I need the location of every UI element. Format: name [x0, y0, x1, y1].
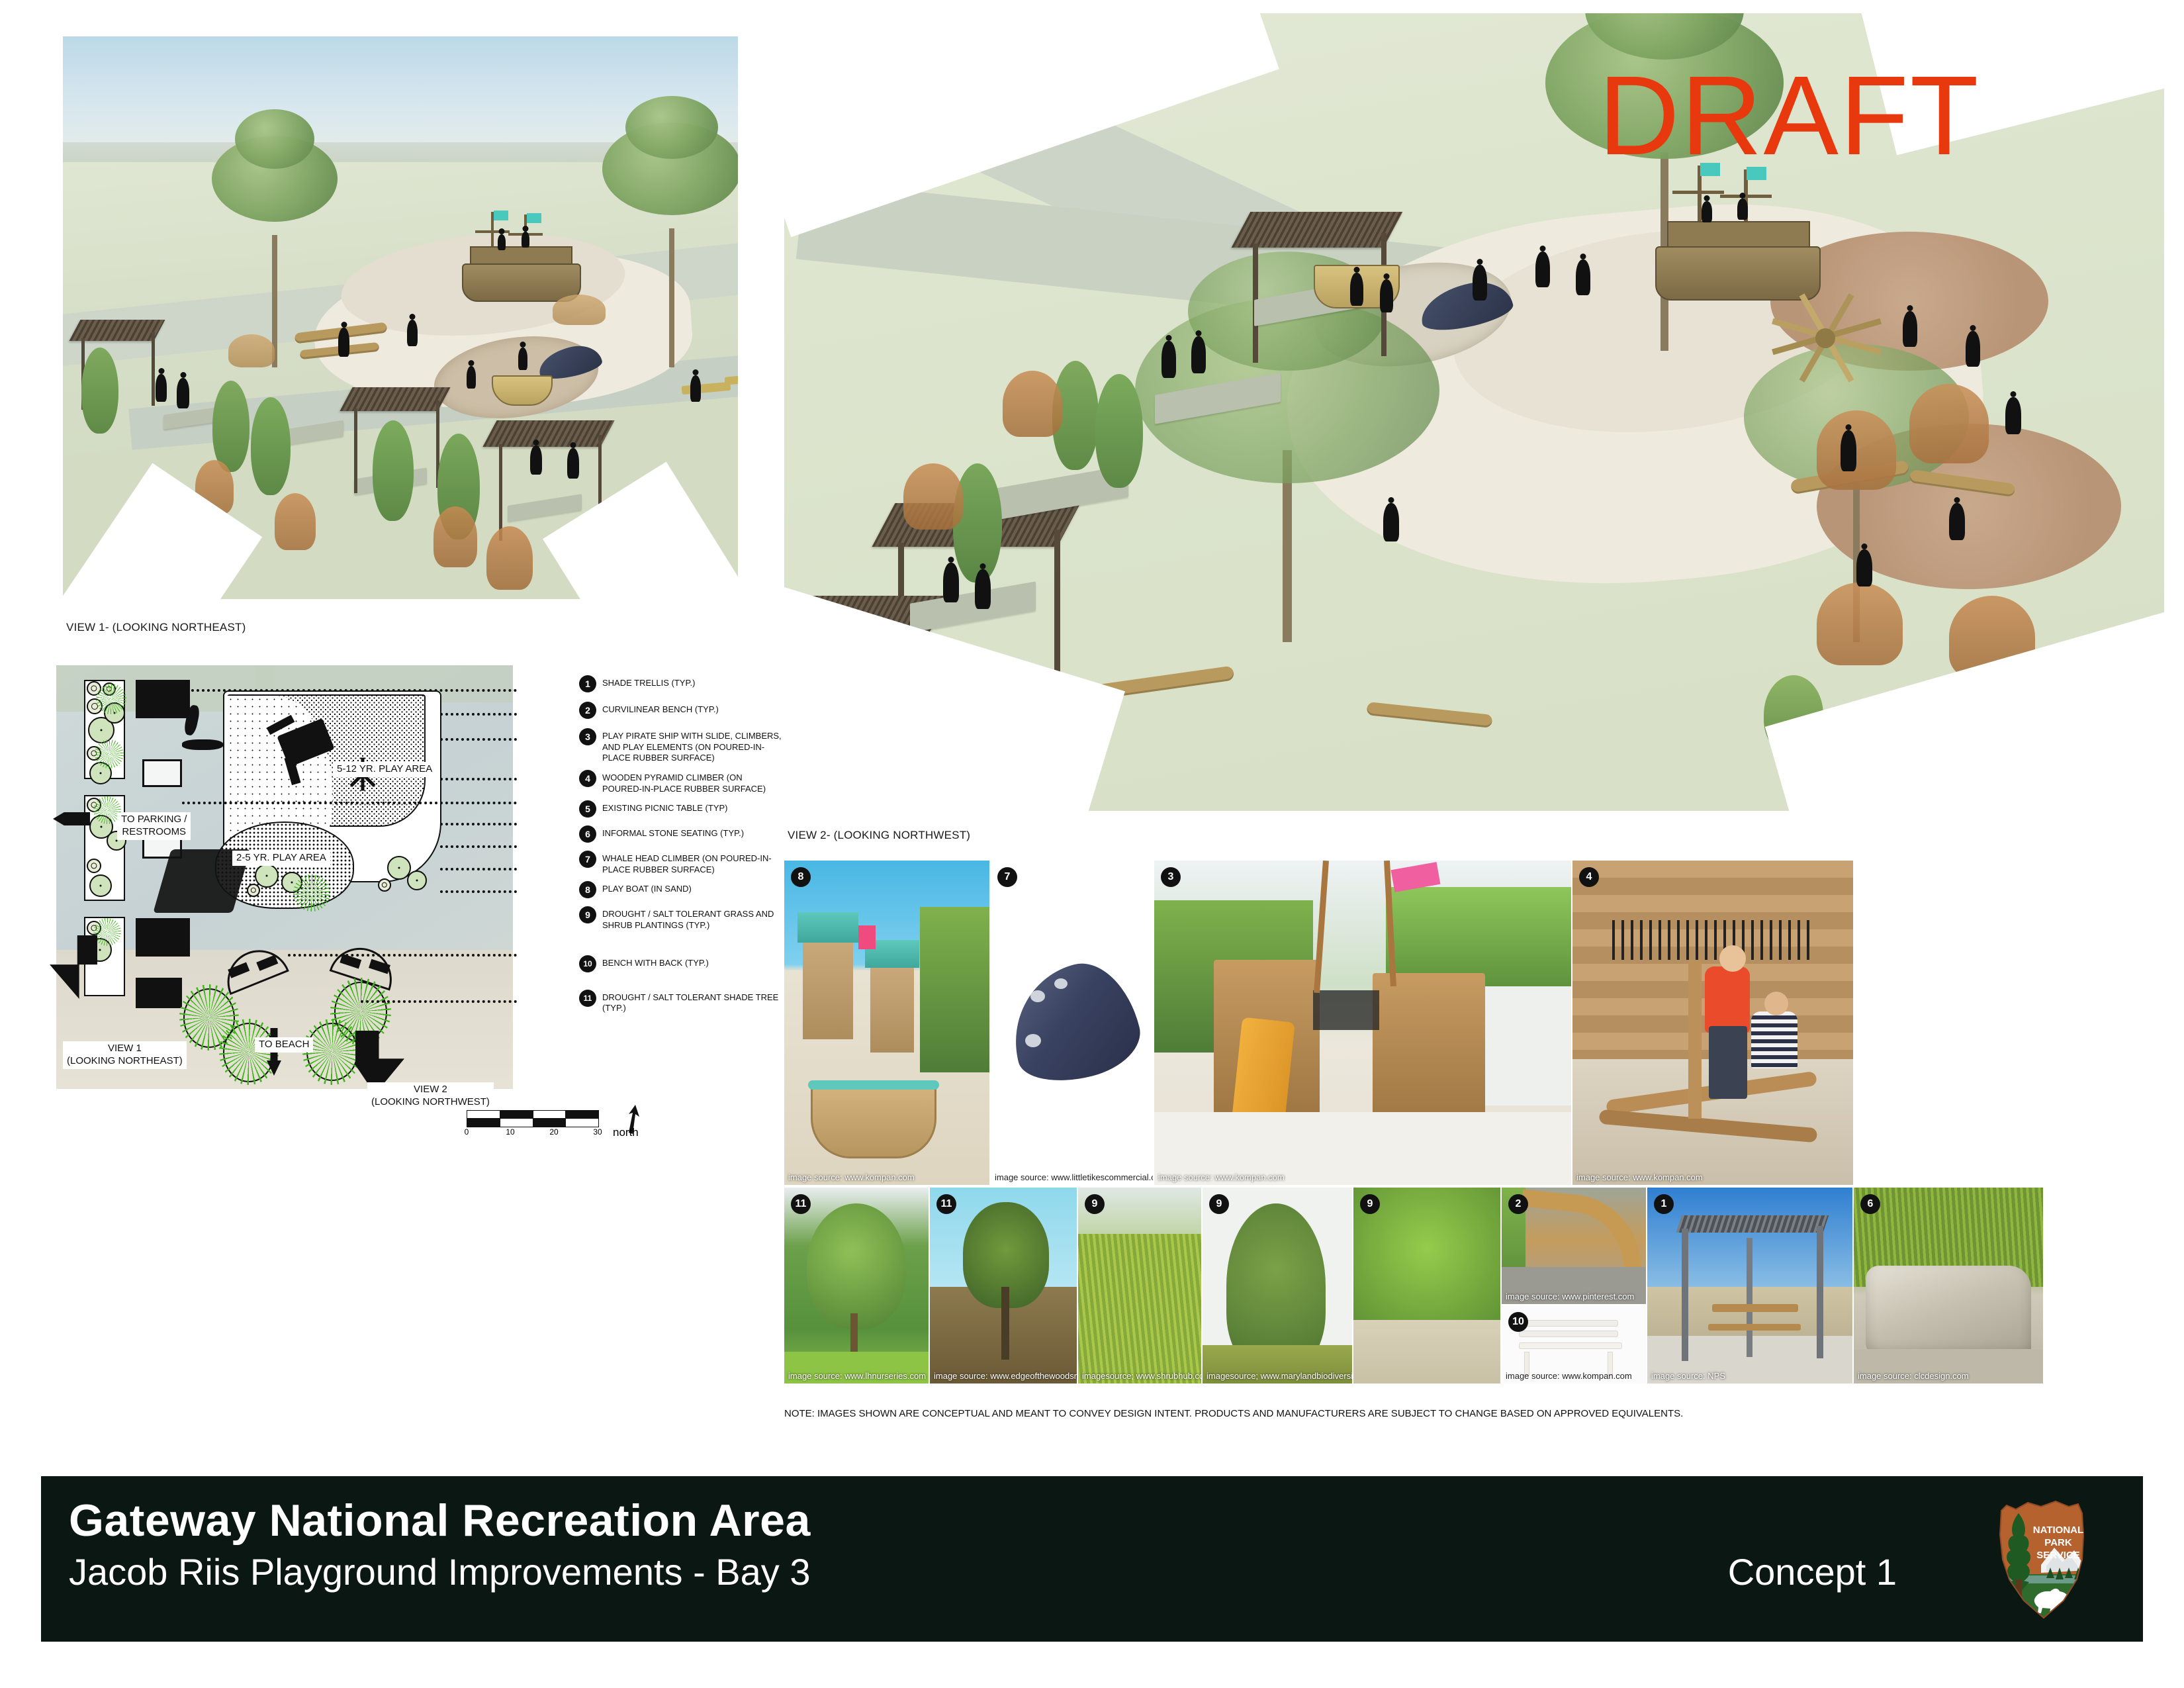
- logo-line-1: NATIONAL: [2033, 1524, 2083, 1536]
- to-parking-label: TO PARKING /RESTROOMS: [117, 812, 191, 840]
- photo-pyramid-climber: 4 image source: www.kompan.com: [1572, 861, 1853, 1185]
- leader-line: [182, 802, 517, 804]
- evergreen-shrub: [212, 381, 250, 472]
- scale-tick: 10: [506, 1127, 514, 1137]
- legend-item: 11 DROUGHT / SALT TOLERANT SHADE TREE (T…: [579, 990, 784, 1014]
- leader-line: [440, 823, 517, 825]
- person-silhouette: [2005, 397, 2021, 434]
- person-silhouette: [943, 563, 959, 602]
- person-silhouette: [1383, 503, 1399, 541]
- photo-pitch-pine: 11 image source: www.edgeofthewoodsnurse…: [930, 1188, 1077, 1383]
- legend-text: PLAY PIRATE SHIP WITH SLIDE, CLIMBERS, A…: [602, 728, 784, 764]
- legend-number: 6: [579, 825, 596, 843]
- photo-bench-with-back: 10 image source: www.kompan.com: [1502, 1305, 1646, 1383]
- legend-item: 10 BENCH WITH BACK (TYP.): [579, 955, 784, 972]
- legend-number: 10: [579, 955, 596, 972]
- person-silhouette: [1841, 430, 1856, 471]
- legend-item: 2 CURVILINEAR BENCH (TYP.): [579, 702, 784, 719]
- evergreen-shrub: [373, 420, 414, 521]
- scale-tick: 30: [593, 1127, 602, 1137]
- photo-play-boat: 8 image source: www.kompan.com: [784, 861, 989, 1185]
- person-silhouette: [1903, 311, 1917, 347]
- nps-arrowhead-icon: NATIONAL PARK SERVICE: [1978, 1496, 2103, 1622]
- plan-shade-tree: [223, 1023, 275, 1082]
- evergreen-shrub: [953, 463, 1002, 583]
- legend-item: 1 SHADE TRELLIS (TYP.): [579, 675, 784, 692]
- plan-shade-trellis: [136, 918, 190, 957]
- evergreen-shrub: [251, 397, 291, 495]
- concept-label: Concept 1: [1728, 1550, 1897, 1593]
- photo-source: image source: www.lhnurseries.com: [788, 1371, 926, 1381]
- park-name: Gateway National Recreation Area: [69, 1495, 811, 1546]
- legend-text: PLAY BOAT (IN SAND): [602, 881, 692, 898]
- ornamental-grass: [1817, 410, 1896, 490]
- presentation-board: VIEW 1- (LOOKING NORTHEAST): [0, 0, 2184, 1688]
- scale-bar-bottom-row: [467, 1119, 599, 1127]
- person-silhouette: [177, 378, 189, 408]
- photo-badge: 3: [1161, 867, 1181, 887]
- plan-shrub: [378, 878, 391, 892]
- photo-badge: 9: [1209, 1194, 1229, 1214]
- logo-line-3: SERVICE: [2036, 1550, 2080, 1561]
- legend-text: DROUGHT / SALT TOLERANT GRASS AND SHRUB …: [602, 906, 784, 931]
- person-silhouette: [1966, 331, 1980, 367]
- legend-text: DROUGHT / SALT TOLERANT SHADE TREE (TYP.…: [602, 990, 784, 1014]
- plan-play-boat: [182, 739, 223, 750]
- photo-source: image source: www.kompan.com: [1576, 1172, 1703, 1182]
- legend-text: INFORMAL STONE SEATING (TYP.): [602, 825, 744, 843]
- photo-shade-trellis: 1 image source: NPS: [1647, 1188, 1852, 1383]
- leader-line: [361, 1000, 517, 1003]
- scale-bar: 0 10 20 30: [467, 1110, 599, 1138]
- legend-text: BENCH WITH BACK (TYP.): [602, 955, 709, 972]
- logo-line-2: PARK: [2044, 1537, 2072, 1548]
- ornamental-grass: [553, 295, 606, 325]
- legend-item: 5 EXISTING PICNIC TABLE (TYP): [579, 800, 784, 818]
- ornamental-grass: [275, 493, 316, 550]
- plan-grass-planting: [93, 918, 121, 946]
- person-silhouette: [156, 374, 167, 402]
- photo-badge: 1: [1654, 1194, 1674, 1214]
- person-silhouette: [1473, 265, 1487, 301]
- ornamental-grass: [1003, 371, 1062, 437]
- photo-source: image source: www.littletikescommercial.…: [995, 1172, 1153, 1182]
- person-silhouette: [518, 348, 527, 370]
- photo-ornamental-grass: 9 imagesource; www.shrubhub.com: [1078, 1188, 1201, 1383]
- photo-source: image source: www.kompan.com: [788, 1172, 915, 1182]
- legend-number: 9: [579, 906, 596, 923]
- nps-arrowhead-logo: NATIONAL PARK SERVICE: [1978, 1496, 2103, 1622]
- ornamental-grass: [903, 463, 963, 530]
- photo-source: imagesource; www.shrubhub.com: [1082, 1371, 1201, 1381]
- photo-source: image source: clcdesign.com: [1858, 1371, 1969, 1381]
- photo-eastern-red-cedar: 9 imagesource; www.marylandbiodiversity.…: [1203, 1188, 1352, 1383]
- ornamental-grass: [433, 506, 477, 567]
- north-arrow: north: [615, 1102, 645, 1140]
- evergreen-shrub: [1095, 374, 1143, 488]
- to-beach-label: TO BEACH: [255, 1037, 313, 1053]
- person-silhouette: [467, 366, 476, 389]
- person-silhouette: [1949, 503, 1965, 540]
- photo-badge: 9: [1085, 1194, 1105, 1214]
- plan-grass-planting: [95, 739, 124, 769]
- plan-shrub: [407, 870, 427, 890]
- legend-text: EXISTING PICNIC TABLE (TYP): [602, 800, 728, 818]
- north-label: north: [613, 1126, 639, 1139]
- scale-tick: 20: [549, 1127, 558, 1137]
- ornamental-grass: [1909, 384, 1989, 463]
- person-silhouette: [1350, 273, 1363, 306]
- person-silhouette: [1191, 336, 1206, 373]
- plan-shade-tree: [306, 1023, 358, 1081]
- view2-marker-label: VIEW 2(LOOKING NORTHWEST): [367, 1082, 494, 1110]
- legend-text: WHALE HEAD CLIMBER (ON POURED-IN-PLACE R…: [602, 851, 784, 875]
- person-silhouette: [530, 445, 542, 475]
- leader-line: [440, 778, 517, 780]
- legend-item: 7 WHALE HEAD CLIMBER (ON POURED-IN-PLACE…: [579, 851, 784, 875]
- photo-badge: 8: [791, 867, 811, 887]
- plan-shrub: [89, 874, 112, 897]
- legend-text: CURVILINEAR BENCH (TYP.): [602, 702, 719, 719]
- play-2-5-label: 2-5 YR. PLAY AREA: [232, 851, 330, 866]
- plan-grass-planting: [293, 874, 330, 912]
- ornamental-grass: [228, 334, 275, 367]
- photo-badge: 4: [1579, 867, 1599, 887]
- plan-shade-trellis: [136, 680, 190, 718]
- person-silhouette: [975, 569, 991, 609]
- ornamental-grass: [486, 526, 533, 590]
- legend-number: 7: [579, 851, 596, 868]
- legend-number: 1: [579, 675, 596, 692]
- photo-curvilinear-bench: 2 image source: www.pinterest.com: [1502, 1188, 1646, 1304]
- plan-grass-planting: [96, 684, 126, 714]
- plan-legend: 1 SHADE TRELLIS (TYP.) 2 CURVILINEAR BEN…: [579, 675, 784, 1020]
- photo-source: image source: www.edgeofthewoodsnursery.…: [934, 1371, 1077, 1381]
- ornamental-grass: [1817, 583, 1903, 665]
- photo-badge: 7: [997, 867, 1017, 887]
- person-silhouette: [338, 328, 349, 357]
- evergreen-shrub: [81, 348, 118, 434]
- photo-source: image source: www.kompan.com: [1158, 1172, 1285, 1182]
- photo-source: image source: www.kompan.com: [1506, 1371, 1632, 1381]
- legend-item: 8 PLAY BOAT (IN SAND): [579, 881, 784, 898]
- project-name: Jacob Riis Playground Improvements - Bay…: [69, 1550, 811, 1593]
- photo-badge: 10: [1508, 1312, 1528, 1332]
- view1-marker-label: VIEW 1(LOOKING NORTHEAST): [63, 1041, 187, 1069]
- legend-number: 8: [579, 881, 596, 898]
- plan-shrub: [247, 884, 260, 897]
- wooden-pyramid-climber: [1770, 305, 1883, 371]
- play-5-12-label: 5-12 YR. PLAY AREA: [333, 762, 436, 777]
- plan-shrub: [87, 859, 101, 873]
- leader-line: [288, 954, 517, 957]
- scale-tick: 0: [465, 1127, 469, 1137]
- draft-watermark: DRAFT: [1598, 60, 1980, 172]
- plan-shade-trellis: [136, 978, 182, 1008]
- leader-line: [440, 845, 517, 848]
- play-pirate-ship: [1638, 165, 1837, 311]
- person-silhouette: [567, 448, 579, 479]
- photo-badge: 11: [791, 1194, 811, 1214]
- photo-informal-stone-seating: 6 image source: clcdesign.com: [1854, 1188, 2043, 1383]
- title-block: Gateway National Recreation Area Jacob R…: [41, 1476, 2143, 1642]
- leader-line: [440, 738, 517, 741]
- legend-number: 3: [579, 728, 596, 745]
- legend-number: 11: [579, 990, 596, 1007]
- photo-source: imagesource; www.marylandbiodiversity.co…: [1206, 1371, 1352, 1381]
- legend-number: 2: [579, 702, 596, 719]
- person-silhouette: [1576, 259, 1590, 295]
- leader-line: [440, 868, 517, 870]
- leader-line: [440, 890, 517, 893]
- legend-number: 4: [579, 770, 596, 787]
- photo-badge: 11: [936, 1194, 956, 1214]
- photo-source: image source: NPS: [1651, 1371, 1725, 1381]
- legend-text: WOODEN PYRAMID CLIMBER (ON POURED-IN-PLA…: [602, 770, 784, 794]
- plan-shrub: [255, 864, 279, 888]
- scale-bar-ticks: 0 10 20 30: [467, 1127, 599, 1138]
- photo-badge: 9: [1360, 1194, 1380, 1214]
- photo-badge: 2: [1508, 1194, 1528, 1214]
- photo-source: image source: www.pinterest.com: [1506, 1291, 1634, 1301]
- person-silhouette: [690, 375, 701, 402]
- play-boat: [492, 375, 553, 406]
- legend-item: 9 DROUGHT / SALT TOLERANT GRASS AND SHRU…: [579, 906, 784, 931]
- photo-whale-climber: 7 image source: www.littletikescommercia…: [991, 861, 1153, 1185]
- plan-picnic-table: [142, 759, 182, 787]
- legend-item: 6 INFORMAL STONE SEATING (TYP.): [579, 825, 784, 843]
- leader-line: [440, 713, 517, 716]
- photo-shade-tree: 11 image source: www.lhnurseries.com: [784, 1188, 929, 1383]
- person-silhouette: [1380, 279, 1393, 312]
- legend-text: SHADE TRELLIS (TYP.): [602, 675, 695, 692]
- legend-item: 4 WOODEN PYRAMID CLIMBER (ON POURED-IN-P…: [579, 770, 784, 794]
- leader-line: [186, 689, 517, 692]
- view1-caption: VIEW 1- (LOOKING NORTHEAST): [66, 621, 246, 634]
- view2-caption: VIEW 2- (LOOKING NORTHWEST): [788, 829, 970, 842]
- photo-bayberry-shrub: 9: [1353, 1188, 1500, 1383]
- legend-number: 5: [579, 800, 596, 818]
- photo-pirate-ship: 3 image source: www.kompan.com: [1154, 861, 1571, 1185]
- person-silhouette: [1535, 252, 1550, 287]
- person-silhouette: [1856, 549, 1872, 586]
- person-silhouette: [407, 320, 418, 346]
- photo-badge: 6: [1860, 1194, 1880, 1214]
- precedent-image-grid: 8 image source: www.kompan.com 7 image s…: [784, 861, 2164, 1383]
- site-plan-diagram: TO PARKING /RESTROOMS TO BEACH 5-12 YR. …: [56, 665, 572, 1142]
- legend-item: 3 PLAY PIRATE SHIP WITH SLIDE, CLIMBERS,…: [579, 728, 784, 764]
- view1-rendering: [63, 36, 738, 599]
- photo-grid-note: NOTE: IMAGES SHOWN ARE CONCEPTUAL AND ME…: [784, 1408, 1683, 1419]
- person-silhouette: [1161, 341, 1176, 378]
- scale-bar-top-row: [467, 1110, 599, 1119]
